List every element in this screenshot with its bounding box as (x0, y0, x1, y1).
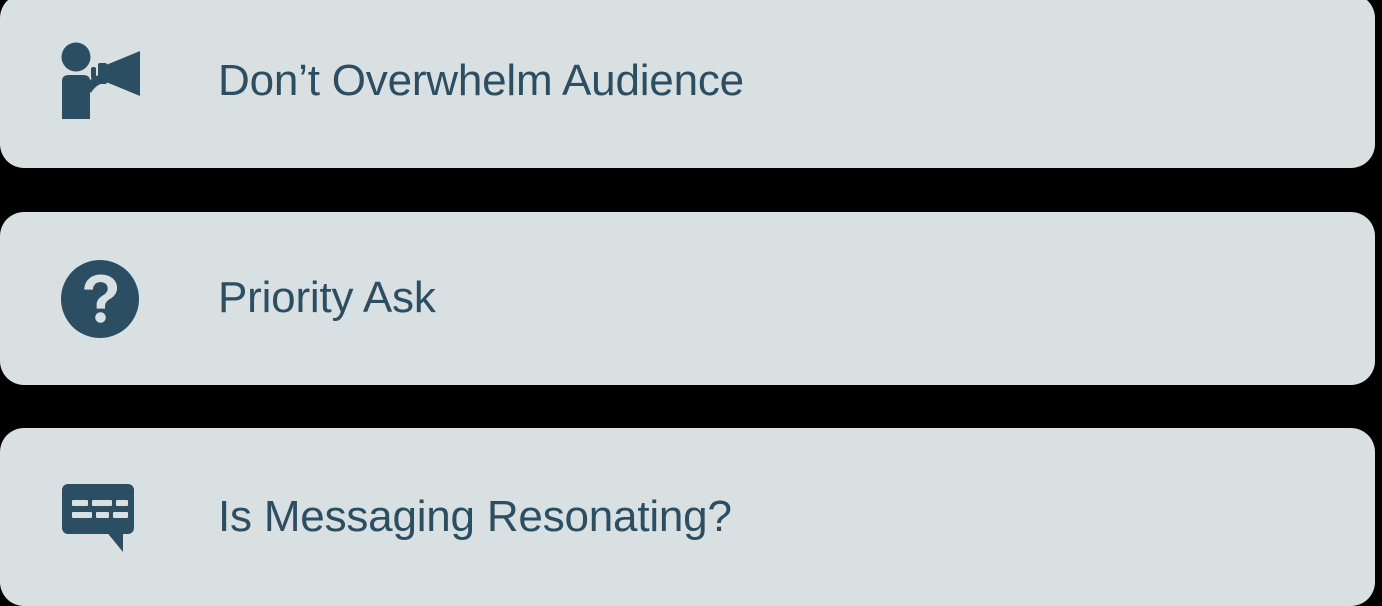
card-label: Priority Ask (218, 274, 1375, 322)
card-priority-ask[interactable]: Priority Ask (0, 212, 1375, 385)
bullhorn-person-icon (52, 33, 148, 129)
card-dont-overwhelm-audience[interactable]: Don’t Overwhelm Audience (0, 0, 1375, 168)
card-is-messaging-resonating[interactable]: Is Messaging Resonating? (0, 428, 1375, 606)
card-label: Is Messaging Resonating? (218, 493, 1375, 541)
card-stack: Don’t Overwhelm Audience Priority Ask (0, 0, 1382, 600)
card-label: Don’t Overwhelm Audience (218, 57, 1375, 105)
speech-bubble-icon (52, 469, 148, 565)
question-mark-circle-icon (52, 251, 148, 347)
